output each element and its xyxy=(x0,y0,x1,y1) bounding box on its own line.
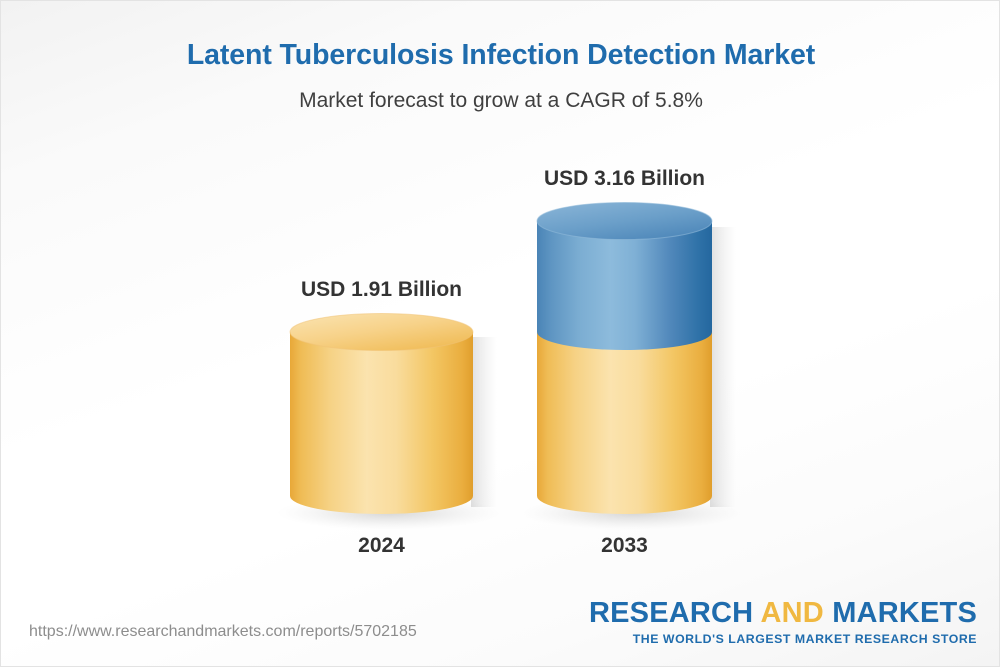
logo-wordmark: RESEARCH AND MARKETS xyxy=(589,599,977,628)
logo-word-research: RESEARCH xyxy=(589,597,753,629)
bar-2033-value-label: USD 3.16 Billion xyxy=(524,167,725,191)
bar-2033 xyxy=(523,203,743,531)
logo-tagline: THE WORLD'S LARGEST MARKET RESEARCH STOR… xyxy=(589,633,977,645)
bar-2024-body xyxy=(290,332,473,514)
bar-2024-category-label: 2024 xyxy=(281,534,482,558)
bar-2024 xyxy=(277,314,501,531)
bar-2024-value-label: USD 1.91 Billion xyxy=(281,278,482,302)
research-and-markets-logo[interactable]: RESEARCH AND MARKETS THE WORLD'S LARGEST… xyxy=(589,599,977,645)
logo-word-markets: MARKETS xyxy=(832,597,977,629)
bar-chart-plot xyxy=(1,1,1000,667)
source-url[interactable]: https://www.researchandmarkets.com/repor… xyxy=(29,623,417,641)
bar-2024-side-shadow xyxy=(471,337,497,507)
bar-2033-base-segment xyxy=(537,332,712,514)
bar-2033-category-label: 2033 xyxy=(524,534,725,558)
bar-2033-side-shadow xyxy=(710,227,736,507)
logo-word-and: AND xyxy=(761,597,824,629)
bar-2033-growth-segment xyxy=(537,221,712,350)
chart-canvas: Latent Tuberculosis Infection Detection … xyxy=(0,0,1000,667)
